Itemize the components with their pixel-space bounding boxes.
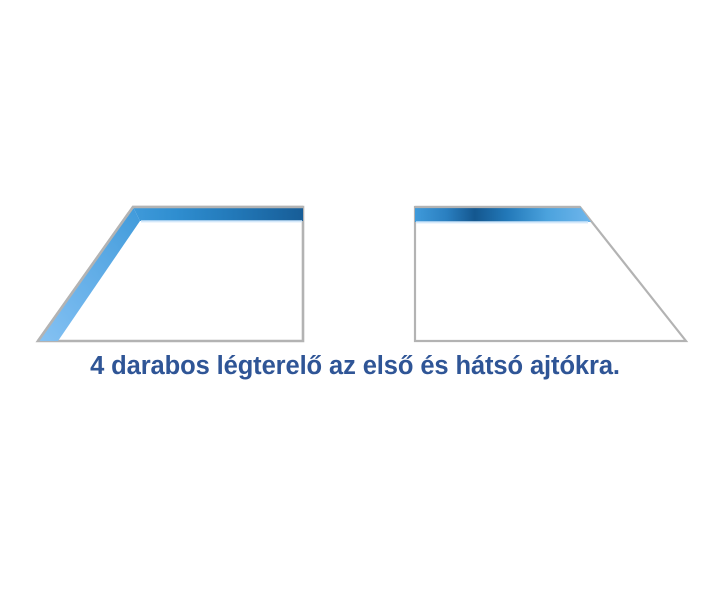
rear-door-band-highlight — [416, 221, 588, 223]
front-door-glass — [38, 207, 303, 341]
front-door-deflector-top-band — [133, 207, 303, 221]
deflector-illustration-svg — [0, 0, 710, 613]
product-illustration: 4 darabos légterelő az első és hátsó ajt… — [0, 0, 710, 613]
product-caption: 4 darabos légterelő az első és hátsó ajt… — [0, 352, 710, 381]
rear-door-glass — [415, 207, 686, 341]
rear-door-window-shape — [415, 207, 686, 341]
rear-door-deflector-top-band — [415, 207, 591, 222]
front-door-band-highlight — [141, 220, 302, 222]
front-door-window-shape — [38, 207, 303, 341]
